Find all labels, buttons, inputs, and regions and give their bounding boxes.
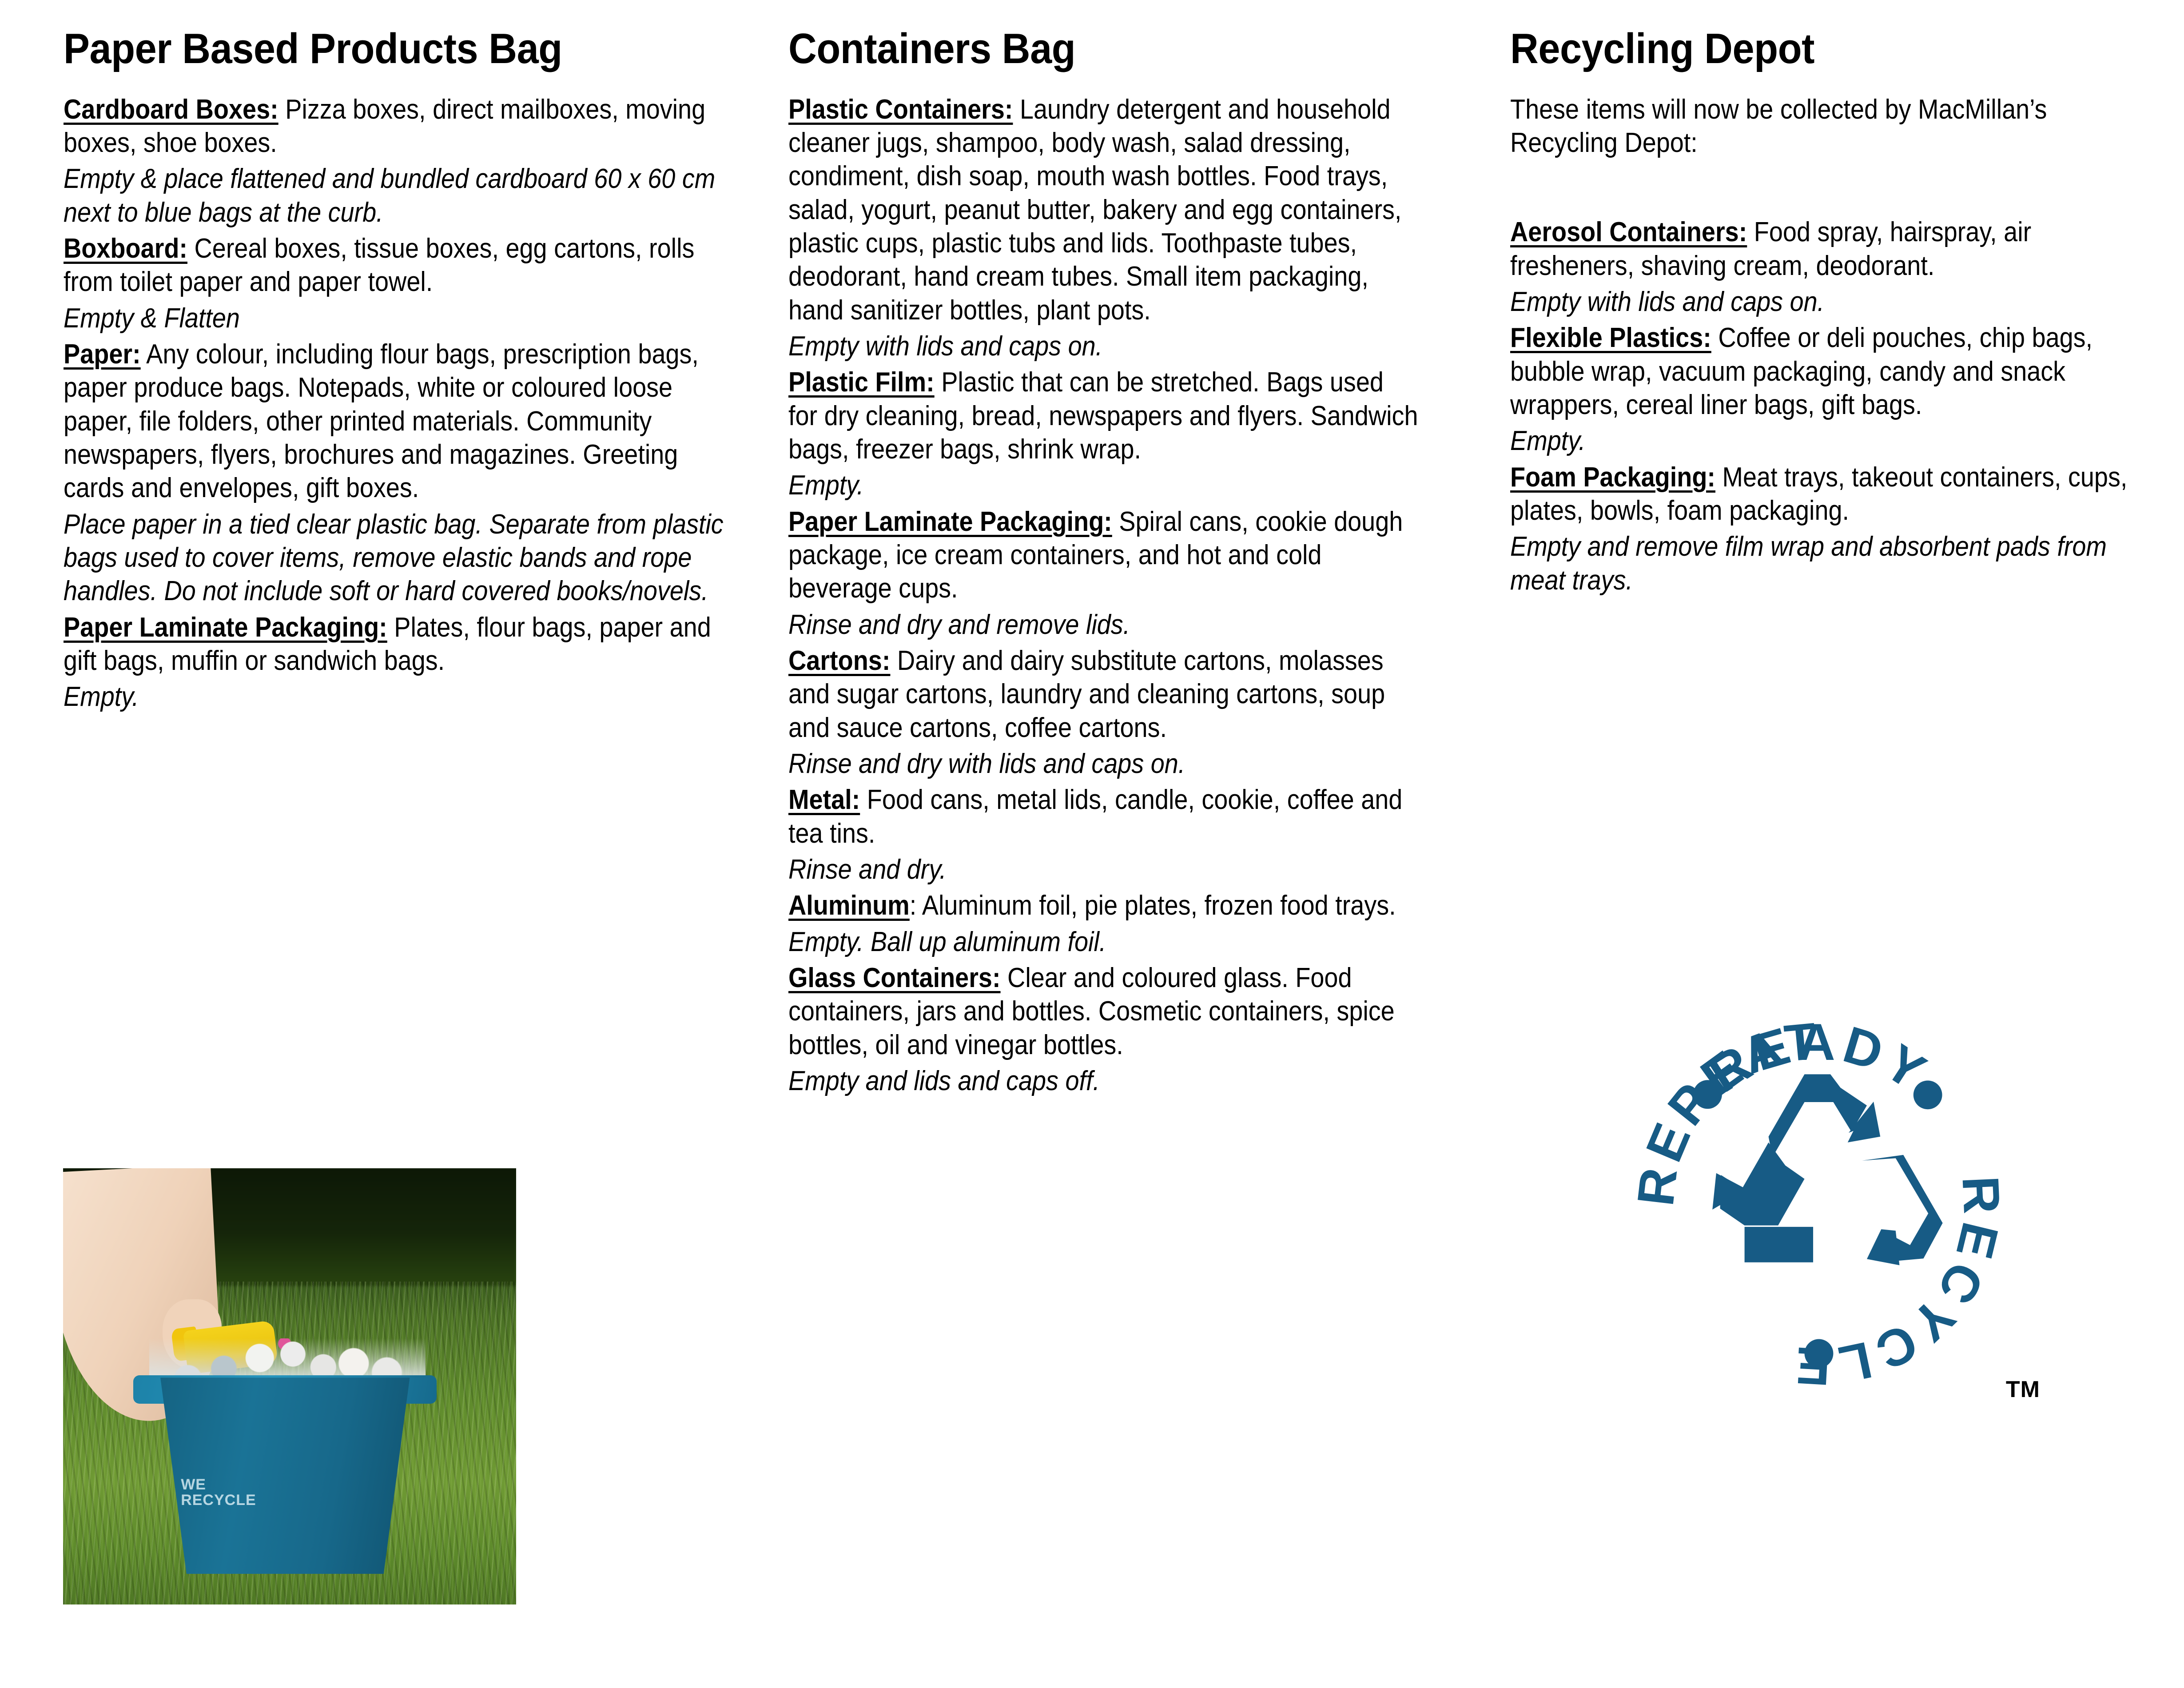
entry-label: Glass Containers:: [788, 963, 1001, 993]
heading-paper-based-products-bag: Paper Based Products Bag: [64, 27, 676, 72]
entry-note: Empty.: [1510, 424, 2145, 458]
entry-text: Plastic Film: Plastic that can be stretc…: [788, 366, 1419, 466]
entry-note: Empty with lids and caps on.: [1510, 285, 2145, 318]
entry-label: Foam Packaging:: [1510, 462, 1715, 493]
entry-text: Cardboard Boxes: Pizza boxes, direct mai…: [64, 93, 729, 160]
entry-label: Paper Laminate Packaging:: [64, 612, 387, 643]
entry-description: Any colour, including flour bags, prescr…: [64, 339, 699, 503]
entry-foam-packaging: Foam Packaging: Meat trays, takeout cont…: [1510, 461, 2145, 597]
entry-note: Empty & Flatten: [64, 302, 729, 335]
column-recycling-depot: Recycling Depot These items will now be …: [1510, 27, 2145, 600]
heading-containers-bag: Containers Bag: [788, 27, 1368, 72]
entry-note: Empty with lids and caps on.: [788, 330, 1419, 363]
entry-text: Boxboard: Cereal boxes, tissue boxes, eg…: [64, 232, 729, 299]
ready-recycle-repeat-logo: READY RECYCLE REPEAT: [1579, 964, 2059, 1444]
entry-note: Empty and lids and caps off.: [788, 1064, 1419, 1098]
heading-recycling-depot: Recycling Depot: [1510, 27, 2095, 72]
entry-description: Food cans, metal lids, candle, cookie, c…: [788, 784, 1402, 848]
entry-note: Empty & place flattened and bundled card…: [64, 162, 729, 229]
entry-flexible-plastics: Flexible Plastics: Coffee or deli pouche…: [1510, 321, 2145, 458]
entry-label: Aerosol Containers:: [1510, 217, 1747, 247]
column-paper-based-products-bag: Paper Based Products Bag Cardboard Boxes…: [64, 27, 730, 717]
entry-paper: Paper: Any colour, including flour bags,…: [64, 338, 730, 608]
entry-paper-laminate-packaging: Paper Laminate Packaging: Spiral cans, c…: [788, 505, 1419, 641]
entry-note: Empty and remove film wrap and absorbent…: [1510, 530, 2145, 597]
entry-plastic-containers: Plastic Containers: Laundry detergent an…: [788, 93, 1419, 363]
entry-label: Paper:: [64, 339, 141, 370]
entry-description: Laundry detergent and household cleaner …: [788, 94, 1401, 326]
entry-paper-laminate-packaging: Paper Laminate Packaging: Plates, flour …: [64, 611, 730, 714]
entry-label: Cartons:: [788, 645, 890, 676]
entry-note: Place paper in a tied clear plastic bag.…: [64, 508, 729, 608]
recycling-bin-photo: WE RECYCLE: [63, 1168, 516, 1604]
entry-label-suffix: :: [910, 890, 917, 921]
brochure-page: Paper Based Products Bag Cardboard Boxes…: [0, 0, 2184, 1688]
recycling-depot-intro: These items will now be collected by Mac…: [1510, 93, 2145, 160]
entry-text: Metal: Food cans, metal lids, candle, co…: [788, 783, 1419, 850]
bin-label-line-2: RECYCLE: [181, 1493, 256, 1509]
separator-dot-icon: [1913, 1080, 1942, 1109]
entry-cardboard-boxes: Cardboard Boxes: Pizza boxes, direct mai…: [64, 93, 730, 229]
entry-aluminum: Aluminum: Aluminum foil, pie plates, fro…: [788, 889, 1419, 959]
entry-text: Aluminum: Aluminum foil, pie plates, fro…: [788, 889, 1419, 922]
entry-text: Aerosol Containers: Food spray, hairspra…: [1510, 215, 2145, 283]
entry-text: Flexible Plastics: Coffee or deli pouche…: [1510, 321, 2145, 422]
entry-note: Rinse and dry with lids and caps on.: [788, 747, 1419, 780]
entry-label: Plastic Containers:: [788, 94, 1013, 125]
entry-label: Aluminum: [788, 890, 910, 921]
entry-text: Cartons: Dairy and dairy substitute cart…: [788, 644, 1419, 744]
bin-label-line-1: WE: [181, 1477, 256, 1493]
photo-canvas: WE RECYCLE: [63, 1168, 516, 1604]
logo-svg: READY RECYCLE REPEAT: [1579, 964, 2059, 1444]
entry-text: Glass Containers: Clear and coloured gla…: [788, 961, 1419, 1062]
entry-text: Foam Packaging: Meat trays, takeout cont…: [1510, 461, 2145, 528]
entry-text: Paper Laminate Packaging: Spiral cans, c…: [788, 505, 1419, 605]
bin-label: WE RECYCLE: [181, 1477, 256, 1509]
entry-text: Paper Laminate Packaging: Plates, flour …: [64, 611, 729, 678]
entry-label: Flexible Plastics:: [1510, 322, 1711, 353]
entry-label: Paper Laminate Packaging:: [788, 506, 1112, 537]
entry-cartons: Cartons: Dairy and dairy substitute cart…: [788, 644, 1419, 780]
entry-note: Empty. Ball up aluminum foil.: [788, 925, 1419, 959]
separator-dot-icon: [1693, 1080, 1722, 1109]
separator-dot-icon: [1805, 1339, 1834, 1368]
entry-boxboard: Boxboard: Cereal boxes, tissue boxes, eg…: [64, 232, 730, 335]
entry-label: Boxboard:: [64, 233, 187, 264]
entry-description: Aluminum foil, pie plates, frozen food t…: [916, 890, 1396, 921]
entry-text: Plastic Containers: Laundry detergent an…: [788, 93, 1419, 327]
entry-label: Cardboard Boxes:: [64, 94, 278, 125]
column-containers-bag: Containers Bag Plastic Containers: Laund…: [788, 27, 1419, 1100]
section-spacer: [1510, 162, 2145, 215]
entry-note: Empty.: [64, 680, 729, 713]
entry-label: Plastic Film:: [788, 367, 935, 398]
entry-aerosol-containers: Aerosol Containers: Food spray, hairspra…: [1510, 215, 2145, 318]
entry-plastic-film: Plastic Film: Plastic that can be stretc…: [788, 366, 1419, 502]
entry-note: Empty.: [788, 469, 1419, 502]
trademark-symbol: TM: [2006, 1376, 2040, 1403]
entry-note: Rinse and dry and remove lids.: [788, 608, 1419, 641]
entry-note: Rinse and dry.: [788, 853, 1419, 886]
recycling-triangle-icon: [1712, 1074, 1942, 1265]
entry-text: Paper: Any colour, including flour bags,…: [64, 338, 729, 505]
entry-metal: Metal: Food cans, metal lids, candle, co…: [788, 783, 1419, 886]
entry-label: Metal:: [788, 784, 860, 815]
entry-glass-containers: Glass Containers: Clear and coloured gla…: [788, 961, 1419, 1098]
